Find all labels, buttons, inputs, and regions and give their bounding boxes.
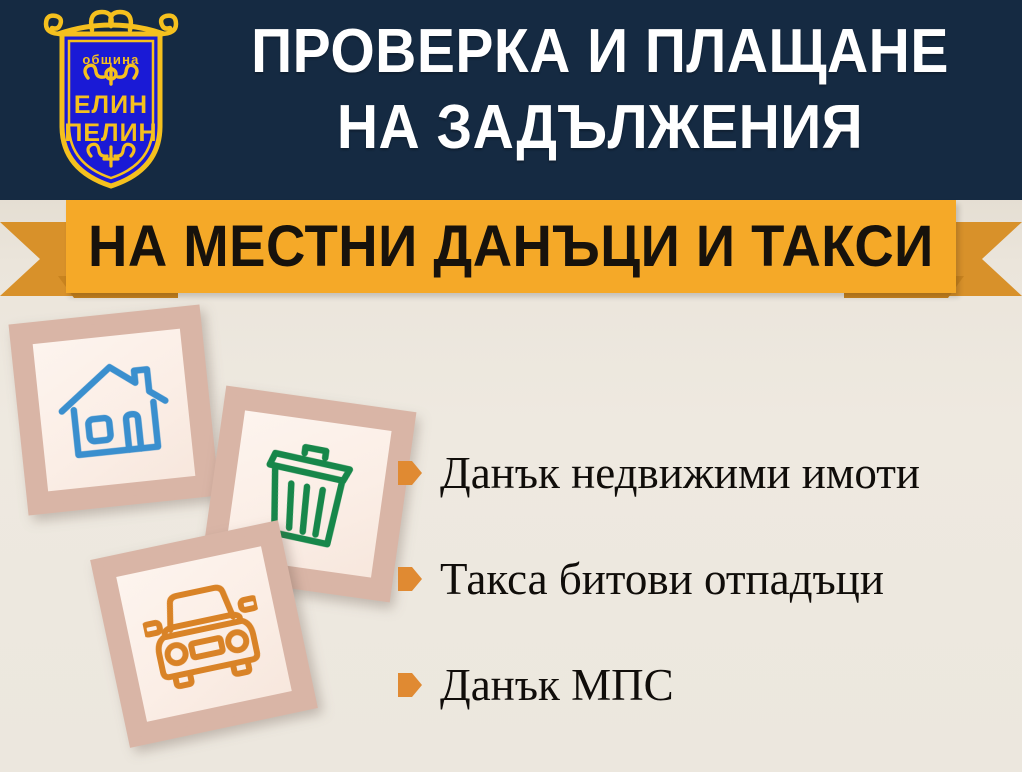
arrow-pentagon-bullet-icon [398,566,422,592]
stamp-card-group [0,300,420,772]
ribbon-label: НА МЕСТНИ ДАНЪЦИ И ТАКСИ [88,218,934,276]
svg-text:ЕЛИН: ЕЛИН [74,91,148,119]
list-item[interactable]: Данък МПС [398,632,1008,738]
arrow-pentagon-bullet-icon [398,672,422,698]
tax-type-list: Данък недвижими имоти Такса битови отпад… [398,420,1008,738]
header-bar: община ЕЛИН ПЕЛИН [0,0,1022,200]
page-title: ПРОВЕРКА И ПЛАЩАНЕ НА ЗАДЪЛЖЕНИЯ [223,14,977,166]
arrow-pentagon-bullet-icon [398,460,422,486]
page-title-line-2: НА ЗАДЪЛЖЕНИЯ [223,90,977,166]
list-item[interactable]: Такса битови отпадъци [398,526,1008,632]
municipality-logo: община ЕЛИН ПЕЛИН [36,8,186,192]
svg-text:ПЕЛИН: ПЕЛИН [64,119,157,147]
ribbon-main-band: НА МЕСТНИ ДАНЪЦИ И ТАКСИ [66,200,956,293]
subtitle-ribbon: НА МЕСТНИ ДАНЪЦИ И ТАКСИ [0,200,1022,310]
list-item-label: Данък недвижими имоти [440,448,920,498]
list-item-label: Данък МПС [440,660,674,710]
list-item[interactable]: Данък недвижими имоти [398,420,1008,526]
car-icon [137,574,271,694]
stamp-card-house [8,304,219,515]
stamp-paper-car [116,546,292,722]
stamp-paper-house [33,329,196,492]
list-item-label: Такса битови отпадъци [440,554,884,604]
poster-canvas: община ЕЛИН ПЕЛИН [0,0,1022,772]
house-icon [53,353,175,466]
page-title-line-1: ПРОВЕРКА И ПЛАЩАНЕ [223,14,977,90]
stamp-card-car [90,520,318,748]
